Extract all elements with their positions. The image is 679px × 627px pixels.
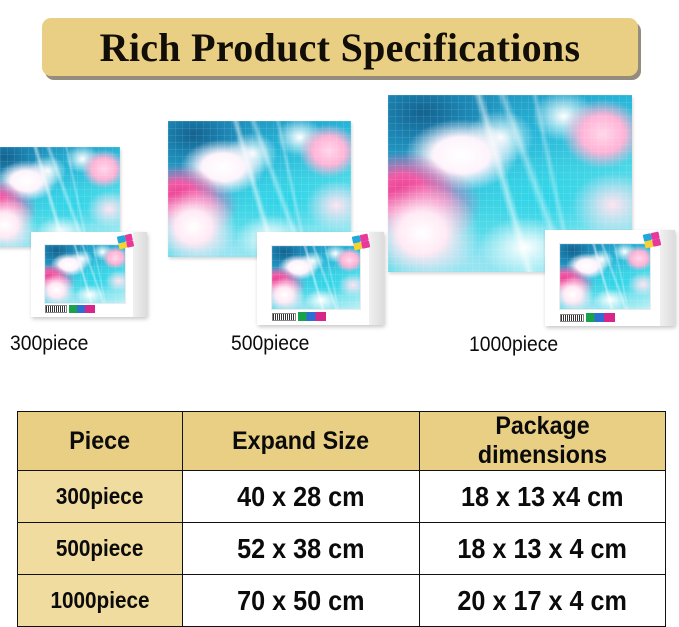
box-side-panel [369, 232, 384, 325]
brand-badge [298, 312, 326, 321]
box-side-panel [660, 230, 675, 326]
product-box-500piece [257, 232, 384, 325]
box-window-artwork [560, 244, 650, 309]
table-row: 500piece 52 x 38 cm 18 x 13 x 4 cm [18, 523, 666, 575]
specifications-table: Piece Expand Size Package dimensions 300… [17, 411, 666, 627]
cell-package-dimensions-300: 18 x 13 x4 cm [420, 471, 666, 523]
product-box-300piece [31, 232, 147, 317]
cloud-puzzle-artwork [272, 246, 360, 309]
product-group-1000piece: 1000piece [388, 95, 674, 377]
puzzle-piece-logo [352, 233, 371, 250]
box-label-strip [45, 305, 95, 313]
barcode-strip [45, 305, 67, 313]
puzzle-piece-logo [643, 231, 662, 248]
column-header-package-dimensions: Package dimensions [420, 412, 666, 471]
column-header-piece: Piece [18, 412, 183, 471]
box-label-strip [560, 313, 615, 322]
product-caption-300piece: 300piece [10, 332, 88, 356]
box-side-panel [133, 232, 147, 317]
cell-package-dimensions-1000: 20 x 17 x 4 cm [420, 575, 666, 627]
box-label-strip [272, 312, 326, 321]
box-window-artwork [272, 246, 360, 309]
cell-piece-300: 300piece [18, 471, 183, 523]
table-row: 1000piece 70 x 50 cm 20 x 17 x 4 cm [18, 575, 666, 627]
barcode-strip [560, 314, 584, 322]
brand-badge [69, 305, 95, 313]
brand-badge [586, 313, 615, 322]
product-group-300piece: 300piece [0, 147, 156, 377]
cell-piece-500: 500piece [18, 523, 183, 575]
column-header-expand-size: Expand Size [183, 412, 420, 471]
cell-expand-size-1000: 70 x 50 cm [183, 575, 420, 627]
cloud-puzzle-artwork [560, 244, 650, 309]
cell-expand-size-300: 40 x 28 cm [183, 471, 420, 523]
page-title-banner: Rich Product Specifications [42, 18, 638, 76]
table-header-row: Piece Expand Size Package dimensions [18, 412, 666, 471]
cell-piece-1000: 1000piece [18, 575, 183, 627]
box-window-artwork [45, 245, 125, 303]
product-box-1000piece [545, 230, 675, 326]
cell-expand-size-500: 52 x 38 cm [183, 523, 420, 575]
table-row: 300piece 40 x 28 cm 18 x 13 x4 cm [18, 471, 666, 523]
cell-package-dimensions-500: 18 x 13 x 4 cm [420, 523, 666, 575]
product-showcase: 300piece 500piece [0, 95, 679, 385]
cloud-puzzle-artwork [45, 245, 125, 303]
product-caption-1000piece: 1000piece [469, 333, 558, 357]
product-caption-500piece: 500piece [231, 332, 309, 356]
product-group-500piece: 500piece [168, 121, 388, 377]
barcode-strip [272, 313, 296, 321]
puzzle-piece-logo [117, 234, 134, 250]
page-title: Rich Product Specifications [100, 24, 581, 71]
